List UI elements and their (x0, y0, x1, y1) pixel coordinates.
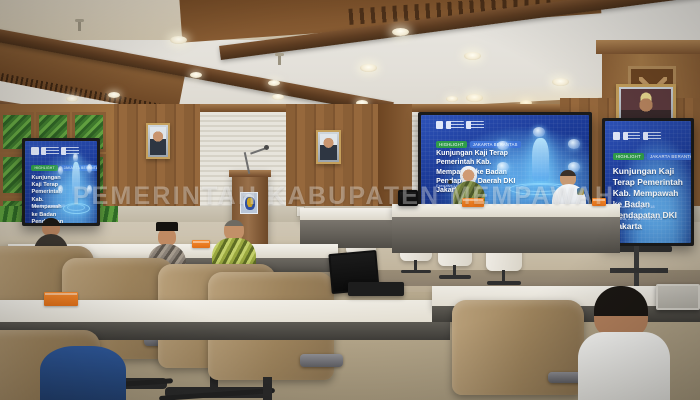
snack-box (44, 292, 78, 306)
tv-stand-shelf (610, 268, 668, 273)
ceiling-downlight (268, 80, 280, 86)
chair-armrest (300, 354, 343, 367)
jakarta-logo-icon (643, 132, 661, 140)
chair-base (401, 270, 430, 274)
portrait-image (150, 127, 166, 155)
bapenda-logo-icon (41, 147, 59, 155)
attendee-foreground-hijab (40, 346, 126, 400)
tv-subtitle-date: Jakarta, 23 November 2023 (613, 216, 680, 222)
jakarta-logo-icon (466, 121, 484, 129)
screen-icon-node (568, 139, 579, 149)
screen-logo-row (436, 121, 484, 129)
head-table-skirt (392, 217, 620, 253)
portrait-image (320, 134, 337, 160)
sprinkler-head (278, 56, 281, 65)
column-capital (596, 40, 700, 54)
ceiling-downlight (66, 96, 78, 102)
chair-post (414, 260, 417, 271)
seal-logo-icon (31, 147, 38, 155)
banner-icon-node (58, 166, 63, 175)
sprinkler-head (78, 22, 81, 31)
banner-icon-node (87, 164, 92, 173)
screen-tower-glow (532, 138, 549, 182)
tag-highlight: HIGHLIGHT (436, 141, 467, 148)
laptop-screen (658, 286, 698, 308)
screen-icon-node (533, 127, 544, 137)
attendee-head (224, 220, 244, 240)
tv-logo-row (613, 132, 661, 140)
bapenda-logo-icon (446, 121, 464, 129)
ceiling-downlight (190, 72, 202, 78)
tv-tag-row: HIGHLIGHT JAKARTA BERANTAS (613, 153, 691, 161)
chair-post (263, 377, 272, 400)
ceiling-downlight (392, 28, 409, 36)
screen-icon-node (497, 162, 508, 172)
foreground-chair (452, 300, 584, 400)
attendee-head (594, 286, 648, 338)
snack-box (192, 240, 210, 248)
tag-secondary: JAKARTA BERANTAS (647, 153, 691, 161)
screen-icon-node (497, 141, 508, 151)
tag-highlight: HIGHLIGHT (613, 153, 644, 161)
conference-room-photo: HIGHLIGHT JAKARTA BERANTAS Kunjungan Kaj… (0, 0, 700, 400)
monitor-stand (348, 282, 404, 296)
laptop-device (656, 284, 700, 310)
ceiling-downlight (108, 92, 120, 98)
bapenda-logo-icon (623, 132, 641, 140)
ceiling-downlight (170, 36, 187, 44)
vice-president-portrait (316, 130, 341, 164)
ceiling-downlight (272, 94, 284, 100)
chair-base (487, 281, 520, 285)
banner-icon-node (73, 153, 78, 162)
watermark-text: PEMERINTAH KABUPATEN MEMPAWAH (24, 182, 664, 211)
seal-logo-icon (613, 132, 620, 140)
peci-cap-icon (156, 222, 178, 231)
seal-logo-icon (436, 121, 443, 129)
ceiling-downlight (464, 52, 481, 60)
microphone-icon (264, 145, 269, 150)
president-portrait (146, 123, 170, 159)
tag-highlight: HIGHLIGHT (31, 165, 57, 171)
ceiling-downlight (360, 64, 377, 72)
chair-base (439, 275, 470, 279)
attendee-white-shirt (578, 332, 670, 400)
